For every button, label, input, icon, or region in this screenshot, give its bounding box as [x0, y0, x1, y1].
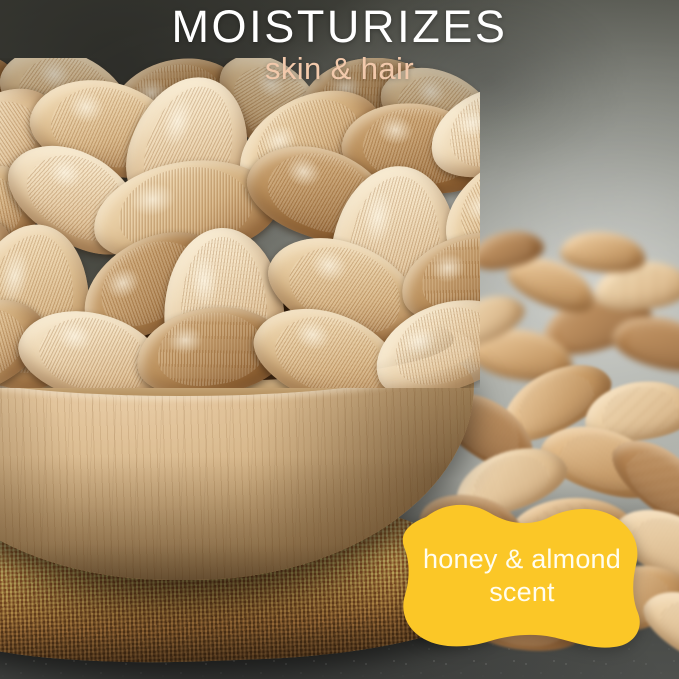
almond-pile	[0, 58, 480, 388]
badge-blob-shape	[386, 503, 658, 649]
almond-pile-mask	[0, 58, 480, 388]
scent-badge: honey & almond scent	[386, 503, 658, 649]
product-image-canvas: MOISTURIZES skin & hair honey & almond s…	[0, 0, 679, 679]
